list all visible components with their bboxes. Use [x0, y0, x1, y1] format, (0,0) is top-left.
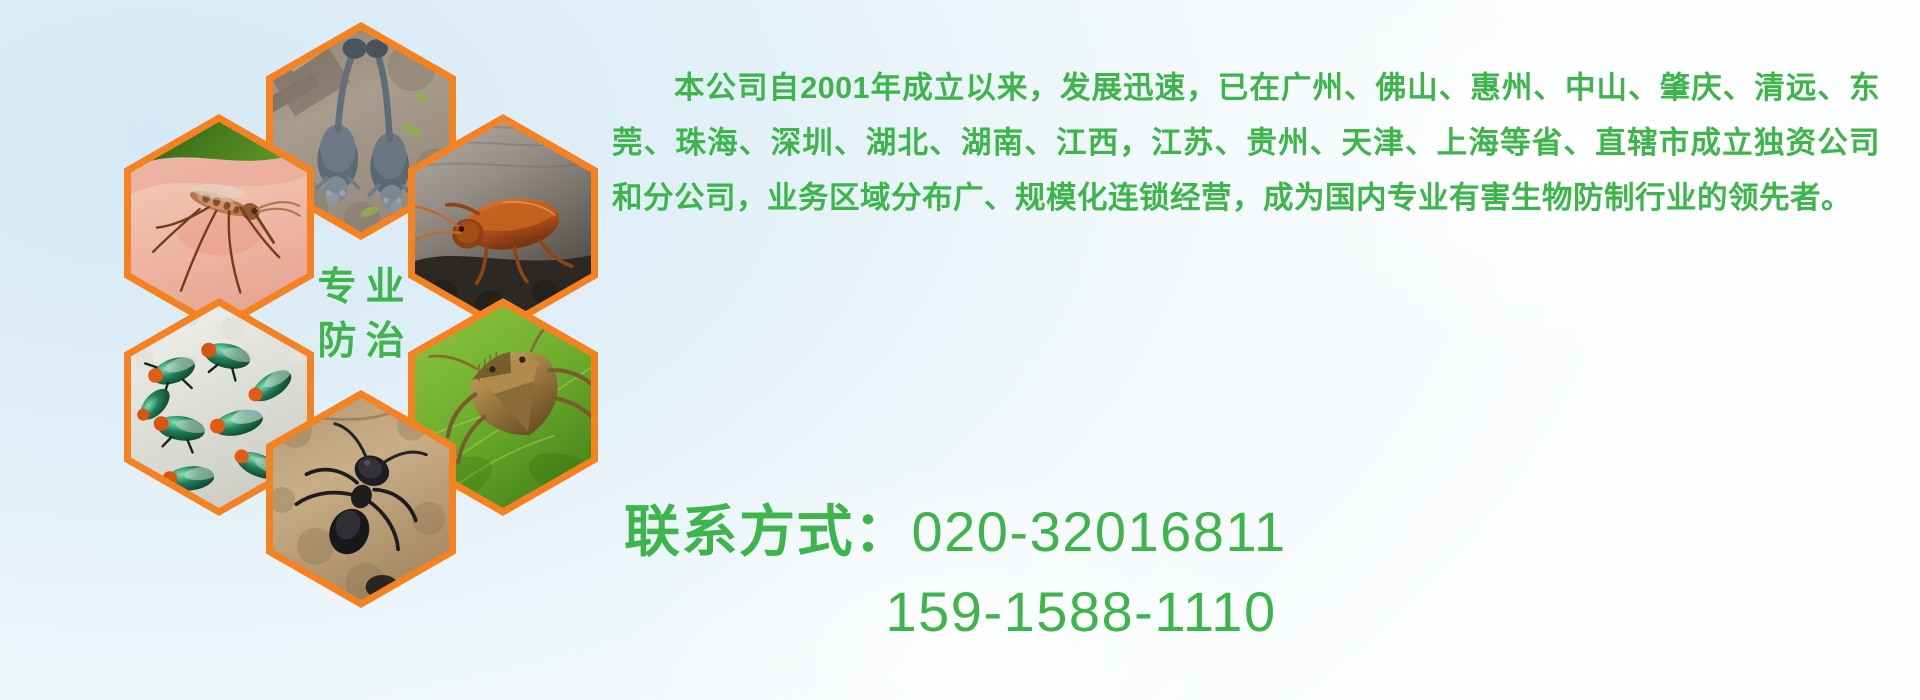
contact-phone-line-2[interactable]: 159-1588-1110 [624, 572, 1287, 652]
contact-phone-1[interactable]: 020-32016811 [912, 500, 1287, 563]
contact-phone-2[interactable]: 159-1588-1110 [886, 580, 1277, 643]
pest-control-banner: 专业 防治 [0, 0, 1920, 700]
ant-photo [273, 398, 449, 600]
hex-photo-cluster: 专业 防治 [90, 8, 590, 568]
intro-copy-block: 本公司自2001年成立以来，发展迅速，已在广州、佛山、惠州、中山、肇庆、清远、东… [612, 30, 1892, 256]
contact-phone-line-1[interactable]: 联系方式：020-32016811 [624, 492, 1287, 572]
contact-block: 联系方式：020-32016811 159-1588-1110 [624, 492, 1287, 652]
intro-paragraph: 本公司自2001年成立以来，发展迅速，已在广州、佛山、惠州、中山、肇庆、清远、东… [612, 61, 1880, 226]
contact-label: 联系方式： [624, 500, 912, 563]
badge-label-line1: 专业 [308, 265, 413, 311]
badge-label-line2: 防治 [308, 319, 413, 365]
